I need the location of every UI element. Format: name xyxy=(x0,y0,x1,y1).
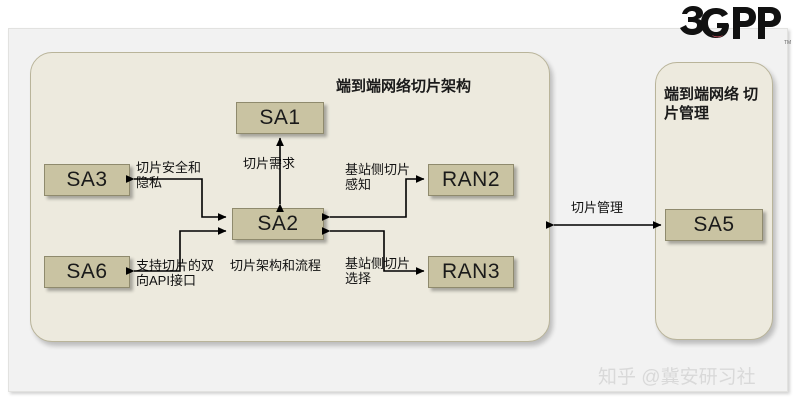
node-sa6[interactable]: SA6 xyxy=(44,256,130,288)
management-panel-title: 端到端网络 切片管理 xyxy=(664,86,768,124)
edge-label-slice-security: 切片安全和 隐私 xyxy=(136,160,201,191)
3gpp-logo: TM xyxy=(676,2,792,46)
edge-label-slice-architecture-flow: 切片架构和流程 xyxy=(230,258,321,273)
edge-label-slice-management: 切片管理 xyxy=(571,200,623,215)
architecture-panel-title: 端到端网络切片架构 xyxy=(336,78,471,97)
node-ran2[interactable]: RAN2 xyxy=(428,164,514,196)
watermark: 知乎 @冀安研习社 xyxy=(598,362,756,389)
node-sa5[interactable]: SA5 xyxy=(665,209,763,241)
edge-label-ran-slice-awareness: 基站侧切片 感知 xyxy=(345,162,410,193)
node-sa2[interactable]: SA2 xyxy=(232,208,324,240)
trademark-label: TM xyxy=(784,40,791,46)
node-sa1[interactable]: SA1 xyxy=(236,102,324,134)
node-sa3[interactable]: SA3 xyxy=(44,164,130,196)
node-ran3[interactable]: RAN3 xyxy=(428,256,514,288)
edge-label-slice-requirement: 切片需求 xyxy=(243,156,295,171)
edge-label-bidirectional-api: 支持切片的双 向API接口 xyxy=(136,258,214,289)
edge-label-ran-slice-selection: 基站侧切片 选择 xyxy=(345,256,410,287)
panel-e2e-slice-architecture xyxy=(30,52,550,342)
